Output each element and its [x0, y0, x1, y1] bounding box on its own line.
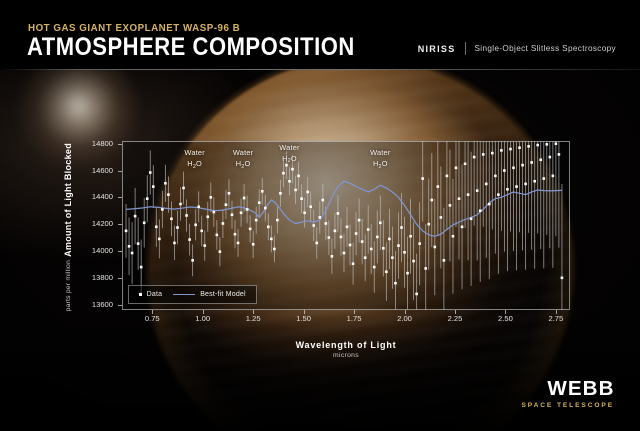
data-marker-icon	[139, 293, 142, 296]
legend-item-data: Data	[139, 291, 162, 298]
page-title: Atmosphere Composition	[27, 33, 355, 62]
x-tick-label: 1.25	[236, 314, 270, 323]
webb-wordmark: WEBB	[519, 379, 614, 399]
y-tick-mark	[118, 278, 122, 279]
model-line-icon	[173, 294, 195, 295]
x-tick-label: 2.50	[488, 314, 522, 323]
x-tick-label: 2.00	[388, 314, 422, 323]
infographic-canvas: Hot Gas Giant Exoplanet WASP-96 b Atmosp…	[0, 0, 640, 431]
x-tick-label: 1.00	[186, 314, 220, 323]
water-annotation: WaterH2O	[173, 148, 217, 170]
x-tick-label: 2.75	[539, 314, 573, 323]
best-fit-model-line	[126, 181, 562, 236]
instrument-mode: Single-Object Slitless Spectroscopy	[475, 44, 617, 53]
instrument-name: NIRISS	[418, 44, 456, 54]
legend-label-model: Best-fit Model	[200, 291, 246, 298]
bottom-fade	[0, 311, 640, 431]
y-tick-label: 14800	[73, 139, 113, 148]
legend-item-model: Best-fit Model	[173, 291, 246, 298]
y-tick-mark	[118, 144, 122, 145]
y-tick-mark	[118, 197, 122, 198]
y-tick-mark	[118, 251, 122, 252]
x-axis-title-units: microns	[122, 352, 570, 359]
header-rule	[0, 69, 640, 70]
x-tick-label: 1.75	[337, 314, 371, 323]
y-axis-title-units: parts per million	[65, 260, 72, 311]
y-tick-label: 14000	[73, 246, 113, 255]
chart-legend: Data Best-fit Model	[128, 285, 257, 304]
webb-logo: WEBB SPACE TELESCOPE	[522, 379, 615, 409]
header-bar: Hot Gas Giant Exoplanet WASP-96 b Atmosp…	[0, 0, 640, 70]
y-tick-label: 14200	[73, 219, 113, 228]
y-tick-label: 14400	[73, 192, 113, 201]
x-axis-title-main: Wavelength of Light	[122, 340, 570, 350]
x-tick-label: 0.75	[135, 314, 169, 323]
y-axis-title-main: Amount of Light Blocked	[63, 143, 73, 257]
instrument-caption: NIRISS Single-Object Slitless Spectrosco…	[418, 42, 616, 55]
caption-divider	[465, 42, 466, 55]
y-tick-mark	[118, 224, 122, 225]
legend-label-data: Data	[147, 291, 163, 298]
y-tick-label: 13600	[73, 300, 113, 309]
water-annotation: WaterH2O	[267, 143, 311, 165]
y-tick-mark	[118, 305, 122, 306]
water-annotation: WaterH2O	[358, 148, 402, 170]
y-tick-label: 14600	[73, 166, 113, 175]
x-axis-title: Wavelength of Light microns	[122, 340, 570, 359]
webb-tagline: SPACE TELESCOPE	[522, 402, 615, 409]
water-annotation: WaterH2O	[221, 148, 265, 170]
x-tick-label: 2.25	[438, 314, 472, 323]
y-tick-mark	[118, 171, 122, 172]
y-tick-label: 13800	[73, 273, 113, 282]
x-tick-label: 1.50	[287, 314, 321, 323]
